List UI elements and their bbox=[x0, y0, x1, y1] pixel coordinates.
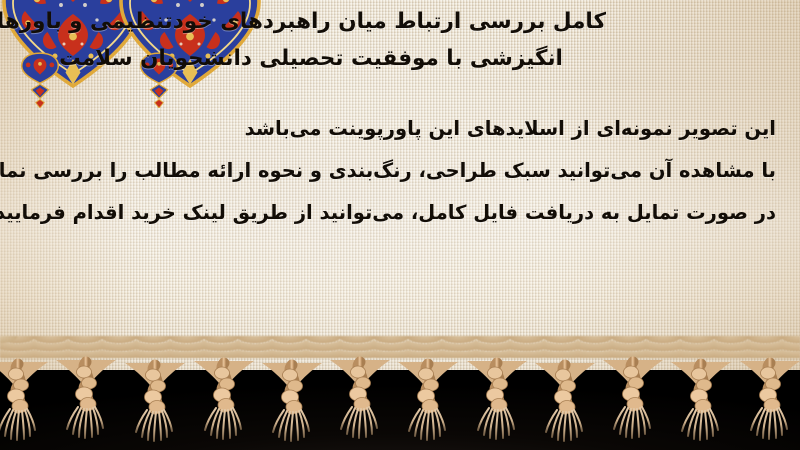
knotted-tassel-fringe bbox=[0, 334, 800, 450]
slide-text-area: کامل بررسی ارتباط میان راهبردهای خودتنظی… bbox=[0, 0, 800, 330]
body-line-2: با مشاهده آن می‌توانید سبک طراحی، رنگ‌بن… bbox=[10, 150, 786, 192]
slide-canvas: کامل بررسی ارتباط میان راهبردهای خودتنظی… bbox=[0, 0, 800, 450]
body-line-1: این تصویر نمونه‌ای از اسلایدهای این پاور… bbox=[10, 108, 786, 150]
slide-title: کامل بررسی ارتباط میان راهبردهای خودتنظی… bbox=[16, 3, 786, 77]
slide-body: این تصویر نمونه‌ای از اسلایدهای این پاور… bbox=[10, 108, 786, 234]
fringe-tassels bbox=[0, 360, 800, 441]
title-line-1: کامل بررسی ارتباط میان راهبردهای خودتنظی… bbox=[16, 3, 786, 40]
title-line-2: انگیزشی با موفقیت تحصیلی دانشجویان سلامت bbox=[16, 40, 786, 77]
body-line-3: در صورت تمایل به دریافت فایل کامل، می‌تو… bbox=[10, 192, 786, 234]
